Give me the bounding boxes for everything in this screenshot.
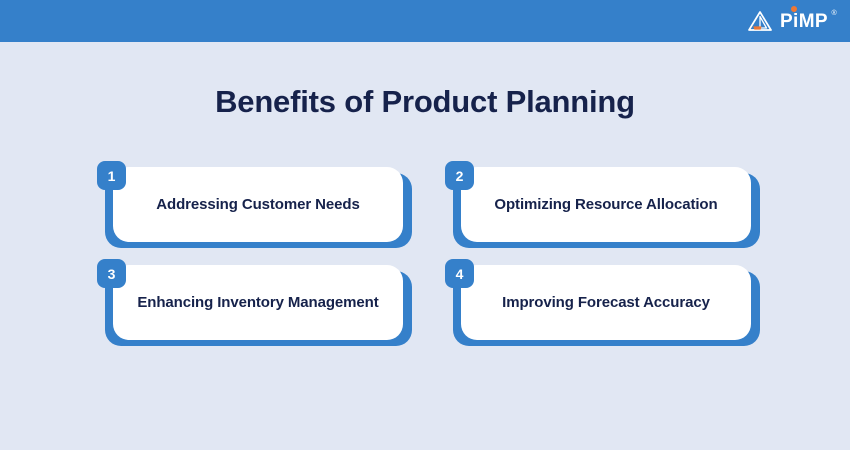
benefit-card-1[interactable]: Addressing Customer Needs 1	[97, 161, 412, 256]
card-label: Optimizing Resource Allocation	[494, 194, 717, 215]
benefit-card-3[interactable]: Enhancing Inventory Management 3	[97, 259, 412, 354]
card-number-badge: 3	[97, 259, 126, 288]
infographic-page: PiMP ® Benefits of Product Planning Addr…	[0, 0, 850, 450]
card-label: Enhancing Inventory Management	[137, 292, 378, 313]
card-face: Addressing Customer Needs	[113, 167, 403, 242]
card-label: Addressing Customer Needs	[156, 194, 359, 215]
card-number-badge: 1	[97, 161, 126, 190]
card-label: Improving Forecast Accuracy	[502, 292, 710, 313]
benefits-card-grid: Addressing Customer Needs 1 Optimizing R…	[0, 0, 850, 450]
card-face: Optimizing Resource Allocation	[461, 167, 751, 242]
card-number-badge: 2	[445, 161, 474, 190]
benefit-card-2[interactable]: Optimizing Resource Allocation 2	[445, 161, 760, 256]
card-number-badge: 4	[445, 259, 474, 288]
card-face: Improving Forecast Accuracy	[461, 265, 751, 340]
card-face: Enhancing Inventory Management	[113, 265, 403, 340]
benefit-card-4[interactable]: Improving Forecast Accuracy 4	[445, 259, 760, 354]
